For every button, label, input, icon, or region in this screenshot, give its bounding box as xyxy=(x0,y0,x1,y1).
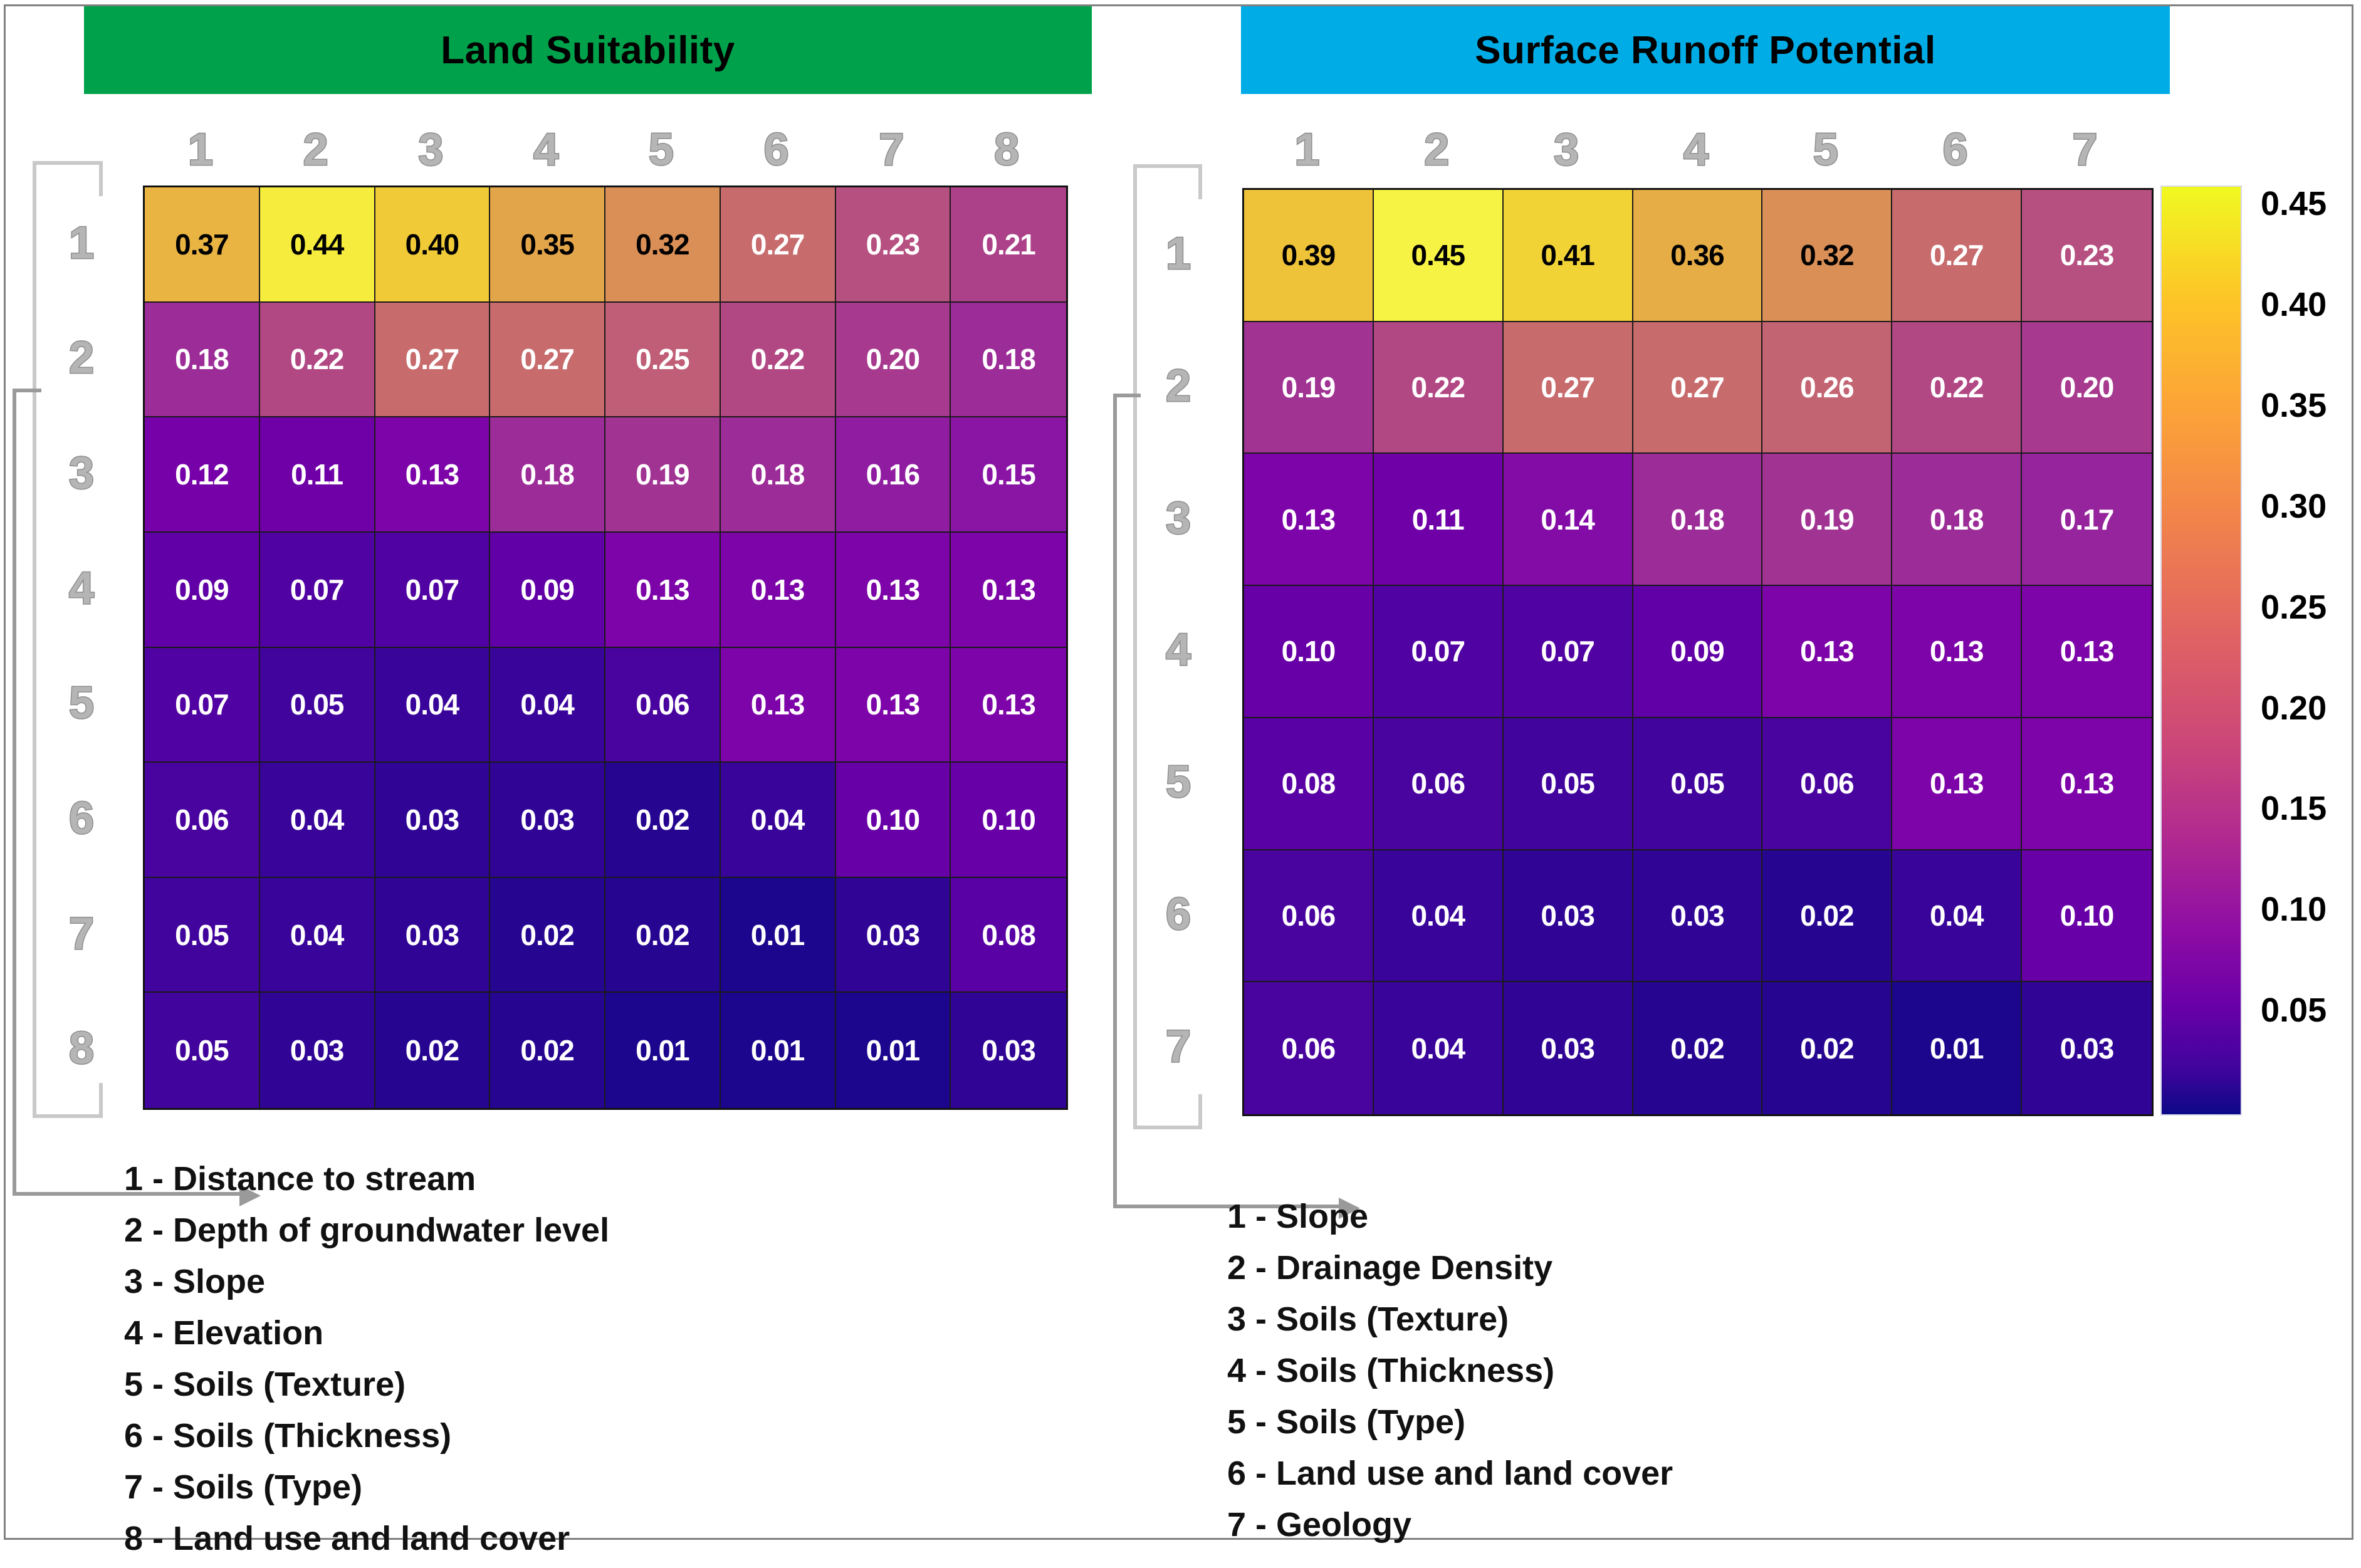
colorbar-tick-label: 0.45 xyxy=(2261,184,2327,223)
heatmap-cell: 0.04 xyxy=(1374,850,1504,983)
heatmap-cell: 0.04 xyxy=(260,878,375,993)
heatmap-cell: 0.18 xyxy=(490,417,605,533)
heatmap-cell: 0.04 xyxy=(375,648,491,763)
row-header: 3 xyxy=(38,416,94,531)
heatmap-cell: 0.18 xyxy=(145,303,260,418)
column-header: 6 xyxy=(719,107,834,175)
bracket-segment xyxy=(1198,164,1202,199)
heatmap-cell: 0.22 xyxy=(260,303,375,418)
heatmap-cell: 0.05 xyxy=(1633,718,1763,850)
legend-item: 7 - Geology xyxy=(1227,1499,1673,1550)
heatmap-cell: 0.27 xyxy=(375,303,491,418)
heatmap-cell: 0.05 xyxy=(260,648,375,763)
column-header: 3 xyxy=(1502,107,1631,175)
heatmap-cell: 0.04 xyxy=(721,763,836,878)
column-header: 3 xyxy=(374,107,489,175)
column-header: 1 xyxy=(143,107,258,175)
heatmap-cell: 0.01 xyxy=(721,878,836,993)
heatmap-cell: 0.02 xyxy=(490,993,605,1108)
heatmap-cell: 0.27 xyxy=(490,303,605,418)
heatmap-cell: 0.03 xyxy=(951,993,1066,1108)
legend-item: 1 - Slope xyxy=(1227,1191,1673,1242)
heatmap-cell: 0.10 xyxy=(2022,850,2152,983)
heatmap-cell: 0.04 xyxy=(260,763,375,878)
heatmap-cell: 0.09 xyxy=(1633,586,1763,718)
heatmap-cell: 0.36 xyxy=(1633,190,1763,322)
heatmap-cell: 0.09 xyxy=(145,533,260,648)
heatmap-cell: 0.05 xyxy=(145,878,260,993)
heatmap-cell: 0.13 xyxy=(1892,586,2022,718)
colorbar-tick-label: 0.10 xyxy=(2261,890,2327,929)
heatmap-cell: 0.13 xyxy=(1762,586,1892,718)
heatmap-cell: 0.03 xyxy=(260,993,375,1108)
row-header: 2 xyxy=(1134,320,1191,452)
bracket-segment xyxy=(99,1083,103,1118)
heatmap-cell: 0.18 xyxy=(721,417,836,533)
heatmap-cell: 0.13 xyxy=(1892,718,2022,850)
row-header: 4 xyxy=(1134,584,1191,716)
heatmap-cell: 0.13 xyxy=(836,648,951,763)
column-header: 4 xyxy=(488,107,604,175)
legend-surface-runoff: 1 - Slope2 - Drainage Density3 - Soils (… xyxy=(1227,1191,1673,1550)
heatmap-cell: 0.08 xyxy=(1244,718,1374,850)
row-header: 7 xyxy=(1134,980,1191,1112)
row-header: 5 xyxy=(1134,716,1191,849)
column-header: 2 xyxy=(1372,107,1502,175)
heatmap-cell: 0.13 xyxy=(951,533,1066,648)
heatmap-cell: 0.21 xyxy=(951,187,1066,303)
heatmap-cell: 0.20 xyxy=(836,303,951,418)
heatmap-cell: 0.13 xyxy=(951,648,1066,763)
heatmap-cell: 0.16 xyxy=(836,417,951,533)
colorbar-tick-label: 0.35 xyxy=(2261,386,2327,425)
heatmap-cell: 0.03 xyxy=(1504,982,1633,1114)
heatmap-cell: 0.19 xyxy=(605,417,721,533)
heatmap-cell: 0.13 xyxy=(2022,718,2152,850)
heatmap-cell: 0.44 xyxy=(260,187,375,303)
heatmap-cell: 0.06 xyxy=(1244,850,1374,983)
row-header: 7 xyxy=(38,876,94,991)
legend-land-suitability: 1 - Distance to stream2 - Depth of groun… xyxy=(124,1153,609,1564)
heatmap-cell: 0.10 xyxy=(951,763,1066,878)
heatmap-cell: 0.01 xyxy=(605,993,721,1108)
row-header: 5 xyxy=(38,646,94,761)
heatmap-cell: 0.03 xyxy=(836,878,951,993)
heatmap-cell: 0.06 xyxy=(1762,718,1892,850)
heatmap-cell: 0.01 xyxy=(836,993,951,1108)
heatmap-cell: 0.13 xyxy=(605,533,721,648)
heatmap-cell: 0.26 xyxy=(1762,322,1892,454)
heatmap-cell: 0.40 xyxy=(375,187,491,303)
bracket-segment xyxy=(1133,164,1202,168)
heatmap-cell: 0.13 xyxy=(375,417,491,533)
legend-item: 5 - Soils (Texture) xyxy=(124,1359,609,1410)
heatmap-cell: 0.18 xyxy=(951,303,1066,418)
column-header: 4 xyxy=(1631,107,1761,175)
heatmap-cell: 0.07 xyxy=(375,533,491,648)
heatmap-cell: 0.27 xyxy=(1504,322,1633,454)
legend-item: 5 - Soils (Type) xyxy=(1227,1396,1673,1448)
heatmap-cell: 0.06 xyxy=(605,648,721,763)
heatmap-cell: 0.05 xyxy=(145,993,260,1108)
bracket-segment xyxy=(33,161,103,165)
heatmap-cell: 0.01 xyxy=(1892,982,2022,1114)
legend-item: 3 - Soils (Texture) xyxy=(1227,1294,1673,1345)
heatmap-cell: 0.20 xyxy=(2022,322,2152,454)
heatmap-cell: 0.03 xyxy=(1504,850,1633,983)
heatmap-cell: 0.03 xyxy=(2022,982,2152,1114)
legend-item: 7 - Soils (Type) xyxy=(124,1461,609,1513)
colorbar-gradient xyxy=(2160,186,2242,1116)
heatmap-cell: 0.06 xyxy=(145,763,260,878)
heatmap-cell: 0.25 xyxy=(605,303,721,418)
heatmap-cell: 0.03 xyxy=(375,763,491,878)
column-header: 7 xyxy=(834,107,950,175)
heatmap-cell: 0.07 xyxy=(260,533,375,648)
heatmap-cell: 0.11 xyxy=(260,417,375,533)
legend-item: 8 - Land use and land cover xyxy=(124,1513,609,1564)
row-header: 6 xyxy=(1134,849,1191,981)
heatmap-cell: 0.37 xyxy=(145,187,260,303)
legend-item: 4 - Soils (Thickness) xyxy=(1227,1345,1673,1396)
heatmap-cell: 0.02 xyxy=(375,993,491,1108)
heatmap-grid-land-suitability: 0.370.440.400.350.320.270.230.210.180.22… xyxy=(143,186,1068,1110)
legend-item: 2 - Drainage Density xyxy=(1227,1242,1673,1294)
heatmap-cell: 0.09 xyxy=(490,533,605,648)
heatmap-cell: 0.19 xyxy=(1762,454,1892,586)
column-header: 5 xyxy=(1761,107,1890,175)
heatmap-cell: 0.15 xyxy=(951,417,1066,533)
legend-item: 3 - Slope xyxy=(124,1256,609,1307)
heatmap-cell: 0.13 xyxy=(721,533,836,648)
heatmap-cell: 0.13 xyxy=(836,533,951,648)
heatmap-cell: 0.02 xyxy=(1762,850,1892,983)
legend-item: 1 - Distance to stream xyxy=(124,1153,609,1205)
heatmap-cell: 0.04 xyxy=(1892,850,2022,983)
heatmap-cell: 0.02 xyxy=(605,878,721,993)
colorbar-tick-label: 0.25 xyxy=(2261,588,2327,627)
heatmap-cell: 0.18 xyxy=(1633,454,1763,586)
heatmap-cell: 0.35 xyxy=(490,187,605,303)
colorbar-tick-label: 0.20 xyxy=(2261,689,2327,728)
column-header: 6 xyxy=(1890,107,2020,175)
heatmap-cell: 0.22 xyxy=(1892,322,2022,454)
column-header: 8 xyxy=(949,107,1064,175)
row-header: 6 xyxy=(38,761,94,876)
column-header: 1 xyxy=(1242,107,1372,175)
bracket-segment xyxy=(1198,1094,1202,1129)
heatmap-cell: 0.27 xyxy=(1892,190,2022,322)
column-header: 7 xyxy=(2020,107,2150,175)
heatmap-cell: 0.07 xyxy=(1504,586,1633,718)
heatmap-cell: 0.13 xyxy=(2022,586,2152,718)
heatmap-cell: 0.14 xyxy=(1504,454,1633,586)
heatmap-cell: 0.02 xyxy=(1762,982,1892,1114)
colorbar-tick-label: 0.30 xyxy=(2261,487,2327,526)
column-header: 2 xyxy=(258,107,374,175)
heatmap-cell: 0.03 xyxy=(375,878,491,993)
heatmap-cell: 0.22 xyxy=(721,303,836,418)
heatmap-cell: 0.02 xyxy=(605,763,721,878)
heatmap-cell: 0.12 xyxy=(145,417,260,533)
panel-title-land-suitability: Land Suitability xyxy=(84,6,1092,94)
colorbar-tick-label: 0.15 xyxy=(2261,789,2327,828)
heatmap-cell: 0.05 xyxy=(1504,718,1633,850)
heatmap-cell: 0.03 xyxy=(490,763,605,878)
heatmap-cell: 0.18 xyxy=(1892,454,2022,586)
heatmap-cell: 0.39 xyxy=(1244,190,1374,322)
bracket-segment xyxy=(1113,394,1117,1208)
bracket-segment xyxy=(33,1114,103,1118)
bracket-segment xyxy=(13,389,16,1196)
column-header: 5 xyxy=(604,107,719,175)
bracket-segment xyxy=(99,161,103,196)
heatmap-cell: 0.27 xyxy=(1633,322,1763,454)
row-header: 1 xyxy=(1134,188,1191,320)
heatmap-cell: 0.03 xyxy=(1633,850,1763,983)
legend-item: 2 - Depth of groundwater level xyxy=(124,1205,609,1256)
heatmap-cell: 0.10 xyxy=(1244,586,1374,718)
heatmap-cell: 0.11 xyxy=(1374,454,1504,586)
heatmap-cell: 0.06 xyxy=(1244,982,1374,1114)
bracket-segment xyxy=(1133,164,1137,1129)
row-header: 4 xyxy=(38,531,94,646)
heatmap-cell: 0.45 xyxy=(1374,190,1504,322)
heatmap-cell: 0.23 xyxy=(836,187,951,303)
heatmap-cell: 0.32 xyxy=(1762,190,1892,322)
bracket-segment xyxy=(33,161,36,1118)
heatmap-cell: 0.32 xyxy=(605,187,721,303)
heatmap-cell: 0.22 xyxy=(1374,322,1504,454)
row-header: 2 xyxy=(38,301,94,416)
row-header: 1 xyxy=(38,186,94,301)
row-header: 3 xyxy=(1134,452,1191,584)
legend-item: 4 - Elevation xyxy=(124,1307,609,1359)
heatmap-cell: 0.10 xyxy=(836,763,951,878)
heatmap-cell: 0.23 xyxy=(2022,190,2152,322)
legend-item: 6 - Soils (Thickness) xyxy=(124,1410,609,1461)
heatmap-grid-surface-runoff: 0.390.450.410.360.320.270.230.190.220.27… xyxy=(1242,188,2154,1116)
colorbar-tick-label: 0.40 xyxy=(2261,285,2327,324)
heatmap-cell: 0.07 xyxy=(145,648,260,763)
heatmap-cell: 0.06 xyxy=(1374,718,1504,850)
heatmap-cell: 0.01 xyxy=(721,993,836,1108)
heatmap-cell: 0.13 xyxy=(1244,454,1374,586)
heatmap-cell: 0.27 xyxy=(721,187,836,303)
heatmap-cell: 0.19 xyxy=(1244,322,1374,454)
panel-title-surface-runoff-potential: Surface Runoff Potential xyxy=(1241,6,2170,94)
heatmap-cell: 0.13 xyxy=(721,648,836,763)
bracket-segment xyxy=(1113,394,1141,397)
heatmap-cell: 0.41 xyxy=(1504,190,1633,322)
legend-item: 6 - Land use and land cover xyxy=(1227,1448,1673,1499)
heatmap-cell: 0.02 xyxy=(490,878,605,993)
heatmap-cell: 0.04 xyxy=(1374,982,1504,1114)
heatmap-cell: 0.08 xyxy=(951,878,1066,993)
row-header: 8 xyxy=(38,991,94,1106)
heatmap-cell: 0.07 xyxy=(1374,586,1504,718)
heatmap-cell: 0.02 xyxy=(1633,982,1763,1114)
bracket-segment xyxy=(13,389,41,392)
heatmap-cell: 0.17 xyxy=(2022,454,2152,586)
colorbar-tick-label: 0.05 xyxy=(2261,991,2327,1030)
bracket-segment xyxy=(1133,1126,1202,1129)
heatmap-cell: 0.04 xyxy=(490,648,605,763)
